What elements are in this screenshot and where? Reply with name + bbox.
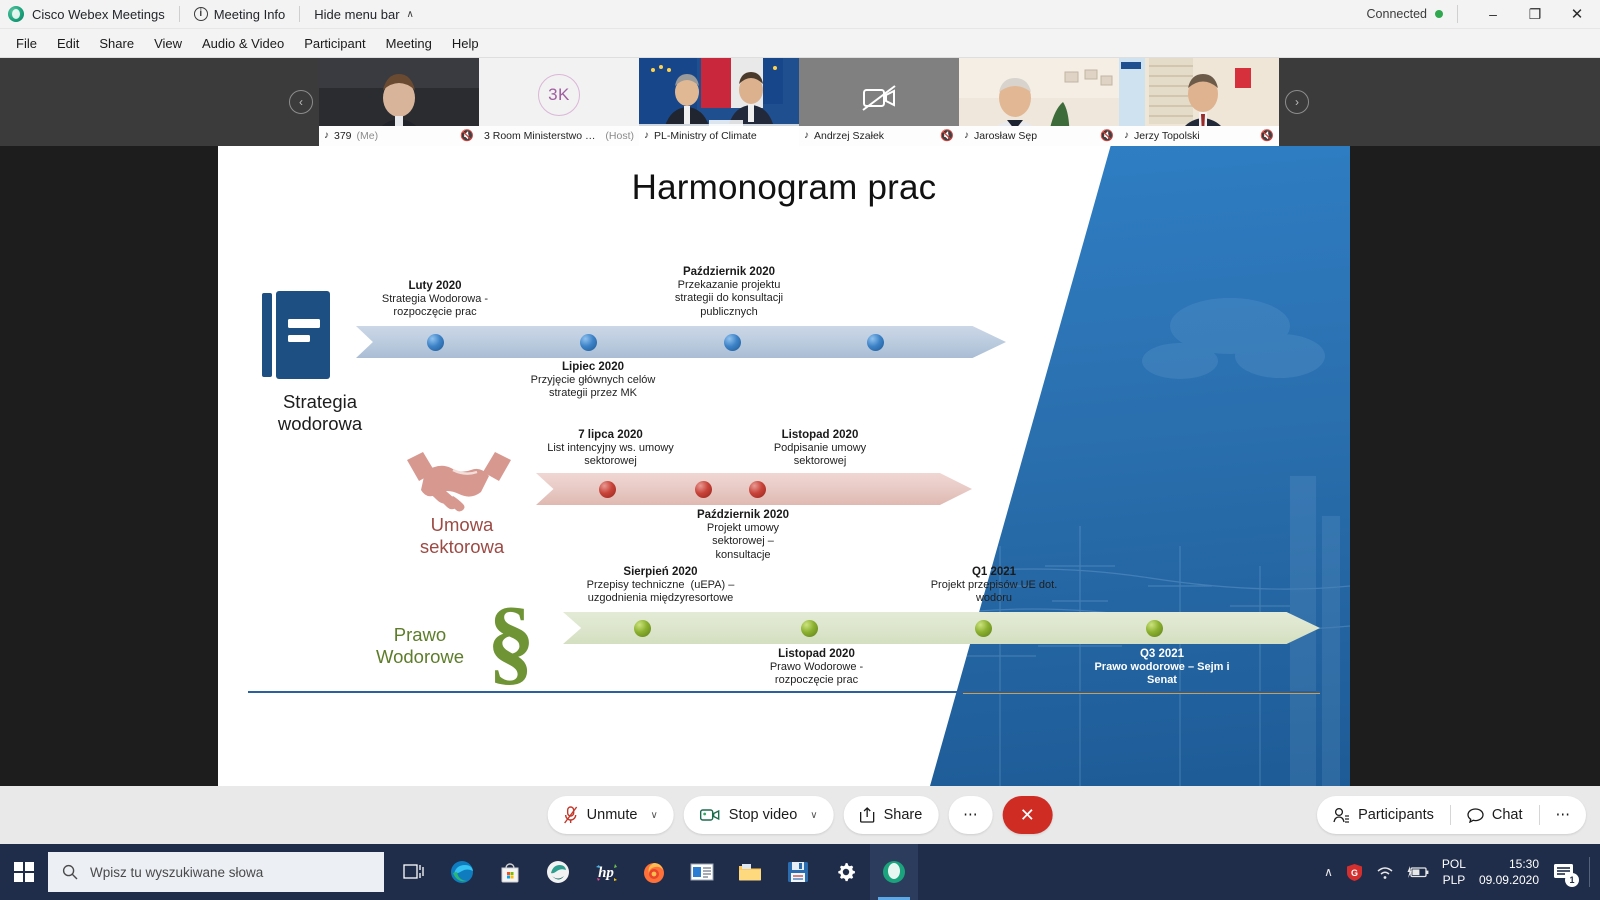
participant-tile-andrzej-szalek[interactable]: ♪ Andrzej Szałek 🔇 — [799, 58, 959, 146]
chevron-down-icon[interactable]: ∨ — [650, 810, 657, 821]
milestone-date: Q1 2021 — [908, 565, 1080, 579]
milestone-date: 7 lipca 2020 — [523, 428, 698, 442]
video-camera-icon — [700, 808, 720, 822]
participants-label: Participants — [1358, 807, 1434, 823]
file-explorer-icon[interactable] — [726, 844, 774, 900]
milestone-date: Listopad 2020 — [739, 647, 894, 661]
antivirus-shield-icon[interactable]: G — [1346, 863, 1363, 882]
chat-button[interactable]: Chat — [1451, 796, 1539, 834]
app-title: Cisco Webex Meetings — [32, 7, 165, 22]
milestone-date: Lipiec 2020 — [513, 360, 673, 374]
participant-tile-jaroslaw-sep[interactable]: ♪ Jarosław Sęp 🔇 — [959, 58, 1119, 146]
info-icon: i — [194, 7, 208, 21]
shared-content-stage: Harmonogram prac Strategia wodorowa Luty… — [0, 146, 1600, 786]
milestone-date: Sierpień 2020 — [563, 565, 758, 579]
milestone-desc: Projekt przepisów UE dot.wodoru — [908, 579, 1080, 606]
microsoft-store-icon[interactable] — [486, 844, 534, 900]
milestone-caption-1-3: Październik 2020 Przekazanie projektustr… — [650, 265, 808, 319]
participant-role: (Host) — [605, 130, 634, 142]
notification-badge: 1 — [1565, 873, 1579, 887]
maximize-button[interactable]: ❐ — [1514, 0, 1556, 29]
control-bar-center: Unmute ∨ Stop video ∨ Share — [548, 796, 1053, 834]
participant-name: Andrzej Szałek — [814, 130, 884, 142]
firefox-icon[interactable] — [630, 844, 678, 900]
mic-muted-icon: 🔇 — [1260, 131, 1274, 142]
handshake-icon — [403, 446, 515, 512]
unmute-button[interactable]: Unmute ∨ — [548, 796, 674, 834]
control-bar-right: Participants Chat ⋯ — [1317, 796, 1586, 834]
presentation-slide[interactable]: Harmonogram prac Strategia wodorowa Luty… — [218, 146, 1350, 786]
milestone-desc: Prawo Wodorowe -rozpoczęcie prac — [739, 661, 894, 688]
timeline-arrow-prawo — [563, 612, 1320, 644]
hide-menu-bar-label: Hide menu bar — [314, 7, 399, 22]
milestone-dot-1-2 — [580, 334, 597, 351]
news-icon[interactable] — [678, 844, 726, 900]
milestone-dot-1-1 — [427, 334, 444, 351]
milestone-date: Luty 2020 — [360, 279, 510, 293]
milestone-date: Listopad 2020 — [744, 428, 896, 442]
milestone-desc: Podpisanie umowysektorowej — [744, 442, 896, 469]
svg-text:G: G — [1351, 868, 1358, 878]
milestone-caption-2-2: Październik 2020 Projekt umowysektorowej… — [673, 508, 813, 562]
tile-label: ♪ PL-Ministry of Climate — [639, 126, 799, 146]
system-tray: ∧ G POL PLP 15:30 09.09.2 — [1324, 856, 1600, 888]
search-placeholder: Wpisz tu wyszukiwane słowa — [90, 865, 263, 880]
wifi-icon[interactable] — [1376, 864, 1394, 880]
mic-muted-icon: 🔇 — [460, 131, 474, 142]
menu-help[interactable]: Help — [442, 33, 489, 54]
settings-icon[interactable] — [822, 844, 870, 900]
participant-name: Jarosław Sęp — [974, 130, 1037, 142]
unmute-label: Unmute — [587, 807, 638, 823]
slide-bottom-rule-gold — [963, 693, 1320, 694]
svg-text:hp: hp — [598, 865, 614, 881]
menu-bar: File Edit Share View Audio & Video Parti… — [0, 29, 1600, 58]
milestone-date: Październik 2020 — [650, 265, 808, 279]
milestone-desc: Prawo wodorowe – Sejm iSenat — [1063, 661, 1261, 688]
camera-off-icon — [862, 85, 896, 111]
row-label-line-1: Strategia — [240, 391, 400, 413]
more-right-button[interactable]: ⋯ — [1540, 796, 1587, 834]
chevron-up-icon: ∧ — [407, 9, 414, 20]
search-icon — [62, 864, 78, 880]
minimize-button[interactable]: – — [1472, 0, 1514, 29]
book-icon — [258, 289, 336, 381]
milestone-caption-2-3: Listopad 2020 Podpisanie umowysektorowej — [744, 428, 896, 469]
title-divider — [179, 6, 180, 22]
tile-label: ♪ Andrzej Szałek 🔇 — [799, 126, 959, 146]
windows-taskbar: Wpisz tu wyszukiwane słowa — [0, 844, 1600, 900]
milestone-desc: Przyjęcie głównych celówstrategii przez … — [513, 374, 673, 401]
participants-icon — [1333, 807, 1350, 823]
milestone-desc: Strategia Wodorowa -rozpoczęcie prac — [360, 293, 510, 320]
row-label-line-2: sektorowa — [382, 536, 542, 558]
right-button-group: Participants Chat ⋯ — [1317, 796, 1586, 834]
avatar: 3K — [538, 74, 580, 116]
menu-meeting[interactable]: Meeting — [376, 33, 442, 54]
milestone-desc: Przepisy techniczne (uEPA) –uzgodnienia … — [563, 579, 758, 606]
powerlines-graphic — [930, 146, 1350, 786]
row-label-line-2: wodorowa — [240, 413, 400, 435]
tray-expand-icon[interactable]: ∧ — [1324, 865, 1333, 879]
timeline-arrow-strategia — [356, 326, 1006, 358]
connection-status-dot-icon — [1435, 10, 1443, 18]
stop-video-button[interactable]: Stop video ∨ — [684, 796, 834, 834]
slide-decoration-blue-shape — [930, 146, 1350, 786]
svg-text:§: § — [487, 591, 535, 687]
chat-bubble-icon — [1467, 808, 1484, 823]
title-bar-right: Connected – ❐ ✕ — [1367, 0, 1600, 29]
menu-audio-video[interactable]: Audio & Video — [192, 33, 294, 54]
share-upload-icon — [860, 807, 875, 823]
app-teal-icon[interactable] — [534, 844, 582, 900]
mic-muted-icon — [564, 806, 578, 824]
paragraph-icon: § — [476, 591, 546, 687]
taskbar-clock[interactable]: 15:30 09.09.2020 — [1479, 856, 1539, 888]
hide-menu-bar-button[interactable]: Hide menu bar ∧ — [314, 7, 414, 22]
share-label: Share — [884, 807, 923, 823]
meeting-control-bar: Unmute ∨ Stop video ∨ Share — [0, 786, 1600, 844]
taskbar-search-input[interactable]: Wpisz tu wyszukiwane słowa — [48, 852, 384, 892]
milestone-caption-1-1: Luty 2020 Strategia Wodorowa -rozpoczęci… — [360, 279, 510, 320]
milestone-dot-2-1 — [599, 481, 616, 498]
milestone-dot-2-3 — [749, 481, 766, 498]
participant-tile-379[interactable]: ♪ 379 (Me) 🔇 — [319, 58, 479, 146]
kbd-line-2: PLP — [1442, 872, 1466, 888]
milestone-caption-1-2: Lipiec 2020 Przyjęcie głównych celówstra… — [513, 360, 673, 401]
notification-center-button[interactable]: 1 — [1552, 860, 1576, 884]
webex-icon[interactable] — [870, 844, 918, 900]
clock-time: 15:30 — [1479, 856, 1539, 872]
milestone-caption-3-1: Sierpień 2020 Przepisy techniczne (uEPA)… — [563, 565, 758, 606]
share-button[interactable]: Share — [844, 796, 939, 834]
menu-file[interactable]: File — [6, 33, 47, 54]
hp-icon[interactable]: hp — [582, 844, 630, 900]
participant-name: 379 — [334, 130, 352, 142]
mic-muted-icon: 🔇 — [940, 131, 954, 142]
chevron-left-icon: ‹ — [289, 90, 313, 114]
battery-charging-icon[interactable] — [1407, 865, 1429, 879]
milestone-caption-3-4: Q3 2021 Prawo wodorowe – Sejm iSenat — [1063, 647, 1261, 688]
connection-status: Connected — [1367, 7, 1427, 21]
audio-headset-icon: ♪ — [964, 131, 969, 141]
mic-muted-icon: 🔇 — [1100, 131, 1114, 142]
filmstrip-next-button[interactable]: › — [1279, 58, 1315, 146]
end-meeting-button[interactable]: ✕ — [1002, 796, 1052, 834]
participant-name: PL-Ministry of Climate — [654, 130, 757, 142]
kbd-line-1: POL — [1442, 856, 1466, 872]
participant-tile-jerzy-topolski[interactable]: ♪ Jerzy Topolski 🔇 — [1119, 58, 1279, 146]
audio-headset-icon: ♪ — [804, 131, 809, 141]
save-app-icon[interactable] — [774, 844, 822, 900]
milestone-dot-1-3 — [724, 334, 741, 351]
windows-logo-icon — [14, 862, 34, 882]
participant-role: (Me) — [357, 130, 379, 142]
tile-label: ♪ Jarosław Sęp 🔇 — [959, 126, 1119, 146]
milestone-desc: Projekt umowysektorowej –konsultacje — [673, 522, 813, 562]
filmstrip-prev-button[interactable]: ‹ — [283, 58, 319, 146]
milestone-date: Październik 2020 — [673, 508, 813, 522]
meeting-info-label: Meeting Info — [214, 7, 286, 22]
webex-meeting-window: Cisco Webex Meetings i Meeting Info Hide… — [0, 0, 1600, 900]
menu-edit[interactable]: Edit — [47, 33, 89, 54]
title-bar: Cisco Webex Meetings i Meeting Info Hide… — [0, 0, 1600, 29]
milestone-dot-3-1 — [634, 620, 651, 637]
audio-headset-icon: ♪ — [1124, 131, 1129, 141]
taskbar-icons: hp — [390, 844, 918, 900]
chevron-down-icon[interactable]: ∨ — [810, 810, 817, 821]
participant-tile-pl-ministry-of-climate[interactable]: ♪ PL-Ministry of Climate — [639, 58, 799, 146]
clock-date: 09.09.2020 — [1479, 872, 1539, 888]
milestone-desc: List intencyjny ws. umowysektorowej — [523, 442, 698, 469]
title-divider-2 — [299, 6, 300, 22]
milestone-dot-3-3 — [975, 620, 992, 637]
meeting-info-button[interactable]: i Meeting Info — [194, 7, 286, 22]
milestone-caption-2-1: 7 lipca 2020 List intencyjny ws. umowyse… — [523, 428, 698, 469]
menu-view[interactable]: View — [144, 33, 192, 54]
row-label-strategia-wodorowa: Strategia wodorowa — [240, 391, 400, 435]
title-divider-3 — [1457, 5, 1458, 23]
stop-video-label: Stop video — [729, 807, 798, 823]
participant-tile-3-room-ministerstwo-klimatu[interactable]: 3K 3 Room Ministerstwo Klimatu (Host) — [479, 58, 639, 146]
chevron-right-icon: › — [1285, 90, 1309, 114]
chat-label: Chat — [1492, 807, 1523, 823]
milestone-desc: Przekazanie projektustrategii do konsult… — [650, 279, 808, 319]
participant-filmstrip: ‹ ♪ 379 (Me) 🔇 3K — [0, 58, 1600, 146]
tray-divider — [1589, 857, 1590, 887]
slide-title: Harmonogram prac — [218, 168, 1350, 208]
milestone-caption-3-3: Q1 2021 Projekt przepisów UE dot.wodoru — [908, 565, 1080, 606]
audio-headset-icon: ♪ — [324, 131, 329, 141]
tile-label: ♪ Jerzy Topolski 🔇 — [1119, 126, 1279, 146]
menu-participant[interactable]: Participant — [294, 33, 375, 54]
webex-logo-icon — [8, 6, 24, 22]
task-view-icon[interactable] — [390, 844, 438, 900]
row-label-umowa-sektorowa: Umowa sektorowa — [382, 514, 542, 558]
milestone-dot-2-2 — [695, 481, 712, 498]
edge-icon[interactable] — [438, 844, 486, 900]
filmstrip-left-gap — [0, 58, 283, 146]
milestone-date: Q3 2021 — [1063, 647, 1261, 661]
milestone-dot-3-2 — [801, 620, 818, 637]
participant-name: Jerzy Topolski — [1134, 130, 1200, 142]
more-options-button[interactable]: ⋯ — [948, 796, 992, 834]
tile-label: ♪ 379 (Me) 🔇 — [319, 126, 479, 146]
milestone-dot-3-4 — [1146, 620, 1163, 637]
start-button[interactable] — [0, 844, 48, 900]
participants-button[interactable]: Participants — [1317, 796, 1450, 834]
keyboard-layout-indicator[interactable]: POL PLP — [1442, 856, 1466, 888]
milestone-dot-1-4 — [867, 334, 884, 351]
menu-share[interactable]: Share — [89, 33, 144, 54]
tile-label: 3 Room Ministerstwo Klimatu (Host) — [479, 126, 639, 146]
title-bar-left: Cisco Webex Meetings i Meeting Info Hide… — [0, 6, 414, 22]
participant-name: 3 Room Ministerstwo Klimatu — [484, 130, 600, 142]
row-label-line-1: Umowa — [382, 514, 542, 536]
audio-speaker-icon: ♪ — [644, 131, 649, 141]
close-button[interactable]: ✕ — [1556, 0, 1598, 29]
milestone-caption-3-2: Listopad 2020 Prawo Wodorowe -rozpoczęci… — [739, 647, 894, 688]
